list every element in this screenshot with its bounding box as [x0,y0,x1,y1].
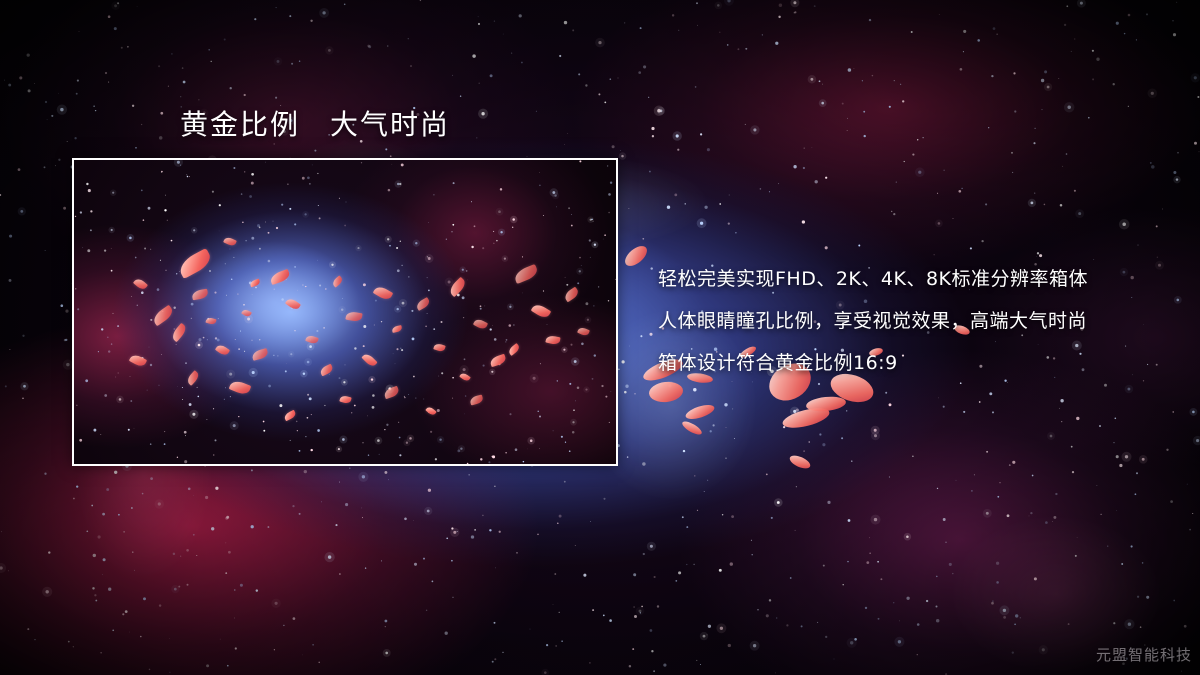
watermark-logo-text: 元盟智能科技 [1096,644,1192,665]
body-line-1: 轻松完美实现FHD、2K、4K、8K标准分辨率箱体 [658,258,1158,300]
body-text-block: 轻松完美实现FHD、2K、4K、8K标准分辨率箱体 人体眼睛瞳孔比例，享受视觉效… [658,258,1158,384]
page-title: 黄金比例 大气时尚 [180,103,450,143]
inset-image-frame [72,158,618,466]
presentation-slide: 黄金比例 大气时尚 轻松完美实现FHD、2K、4K、8K标准分辨率箱体 人体眼睛… [0,0,1200,675]
body-line-3: 箱体设计符合黄金比例16:9 [658,342,1158,384]
body-line-2: 人体眼睛瞳孔比例，享受视觉效果，高端大气时尚 [658,300,1158,342]
